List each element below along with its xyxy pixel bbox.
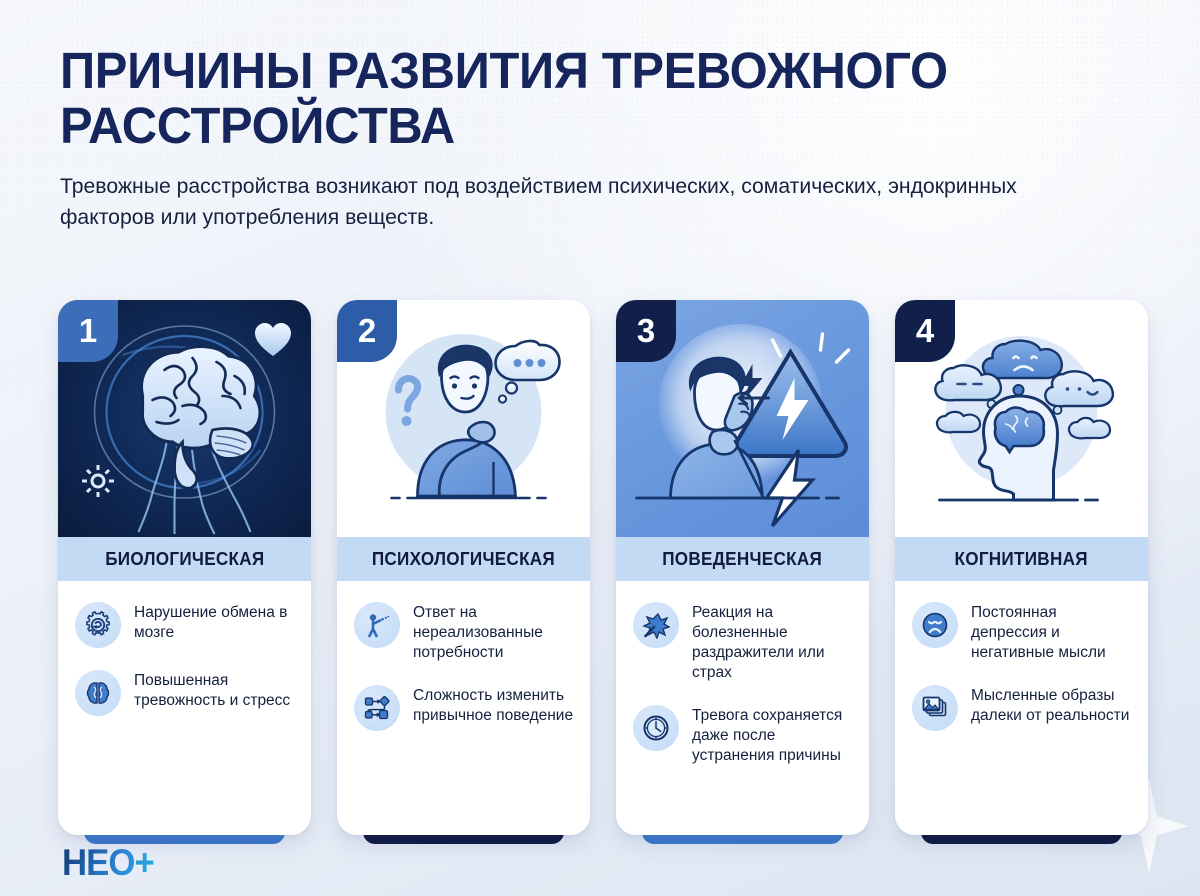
cards-row: 1 БИОЛОГИЧЕСКАЯ [58,300,1148,835]
list-item-text: Сложность изменить привычное поведение [413,685,574,726]
list-item: Тревога сохраняется даже после устранени… [633,705,853,766]
list-item: Реакция на болезненные раздражители или … [633,602,853,683]
sad-face-icon [912,602,958,648]
card-psychological[interactable]: 2 ПСИХОЛОГИЧЕСКАЯ [337,300,590,835]
card-label-band: БИОЛОГИЧЕСКАЯ [58,537,311,581]
list-item-text: Постоянная депрессия и негативные мысли [971,602,1132,663]
card-bullets: Реакция на болезненные раздражители или … [616,581,869,835]
card-biological[interactable]: 1 БИОЛОГИЧЕСКАЯ [58,300,311,835]
card-bullets: Постоянная депрессия и негативные мысли [895,581,1148,835]
list-item-text: Нарушение обмена в мозге [134,602,295,643]
card-number: 3 [637,312,655,350]
page-title: ПРИЧИНЫ РАЗВИТИЯ ТРЕВОЖНОГО РАССТРОЙСТВА [60,44,1058,153]
brand-logo-text: НЕО+ [62,842,154,884]
gear-cycle-icon [75,602,121,648]
card-bullets: Нарушение обмена в мозге [58,581,311,835]
list-item: Нарушение обмена в мозге [75,602,295,648]
clock-icon [633,705,679,751]
list-item-text: Тревога сохраняется даже после устранени… [692,705,853,766]
header: ПРИЧИНЫ РАЗВИТИЯ ТРЕВОЖНОГО РАССТРОЙСТВА… [60,44,1100,232]
card-label: КОГНИТИВНАЯ [955,549,1088,570]
list-item: Мысленные образы далеки от реальности [912,685,1132,731]
card-number-badge: 2 [337,300,397,362]
list-item-text: Мысленные образы далеки от реальности [971,685,1132,726]
card-label-band: ПСИХОЛОГИЧЕСКАЯ [337,537,590,581]
list-item: Сложность изменить привычное поведение [354,685,574,731]
card-number: 1 [79,312,97,350]
list-item: Постоянная депрессия и негативные мысли [912,602,1132,663]
brand-logo: НЕО+ [62,842,160,884]
gear-icon [80,463,116,499]
list-item-text: Повышенная тревожность и стресс [134,670,295,711]
card-label-band: КОГНИТИВНАЯ [895,537,1148,581]
card-bullets: Ответ на нереализованные потребности [337,581,590,835]
card-number-badge: 1 [58,300,118,362]
card-media: 2 [337,300,590,537]
flowchart-icon [354,685,400,731]
infographic-poster: ПРИЧИНЫ РАЗВИТИЯ ТРЕВОЖНОГО РАССТРОЙСТВА… [0,0,1200,896]
list-item: Повышенная тревожность и стресс [75,670,295,716]
card-number-badge: 4 [895,300,955,362]
list-item-text: Ответ на нереализованные потребности [413,602,574,663]
burst-icon [633,602,679,648]
person-reaching-icon [354,602,400,648]
card-label-band: ПОВЕДЕНЧЕСКАЯ [616,537,869,581]
images-icon [912,685,958,731]
card-media: 4 [895,300,1148,537]
card-number: 4 [916,312,934,350]
card-number: 2 [358,312,376,350]
card-cognitive[interactable]: 4 КОГНИТИВНАЯ [895,300,1148,835]
heart-icon [253,322,293,358]
list-item-text: Реакция на болезненные раздражители или … [692,602,853,683]
page-subtitle: Тревожные расстройства возникают под воз… [60,171,1030,232]
card-label: ПОВЕДЕНЧЕСКАЯ [663,549,823,570]
list-item: Ответ на нереализованные потребности [354,602,574,663]
brain-icon [75,670,121,716]
card-behavioral[interactable]: 3 ПОВЕДЕНЧЕСКАЯ Реакция на бол [616,300,869,835]
card-number-badge: 3 [616,300,676,362]
card-label: ПСИХОЛОГИЧЕСКАЯ [372,549,555,570]
card-media: 1 [58,300,311,537]
card-media: 3 [616,300,869,537]
card-label: БИОЛОГИЧЕСКАЯ [105,549,264,570]
